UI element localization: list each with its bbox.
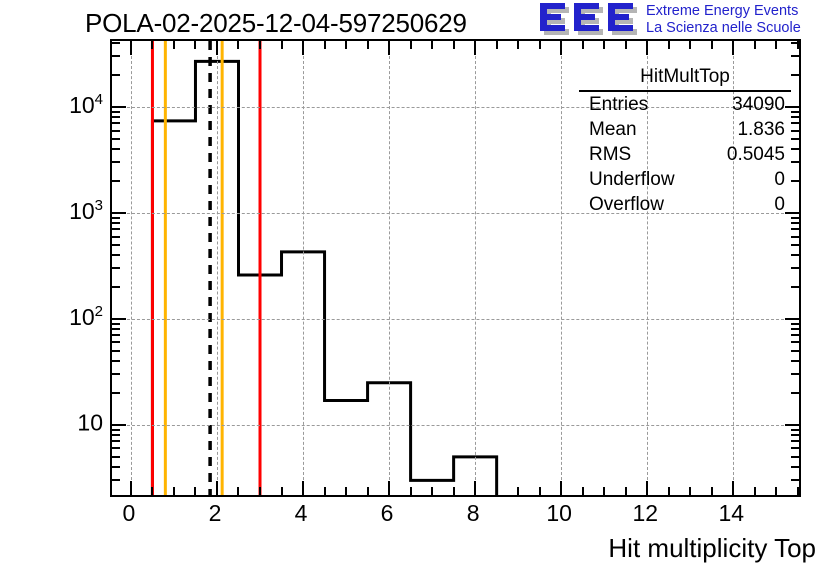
axis-tick (367, 487, 369, 495)
axis-tick (112, 212, 126, 214)
axis-tick (560, 41, 562, 55)
axis-tick (388, 41, 390, 55)
axis-tick (791, 180, 799, 182)
axis-tick (151, 41, 153, 49)
axis-tick (560, 481, 562, 495)
axis-tick (259, 41, 261, 49)
axis-tick (112, 350, 120, 352)
axis-tick (791, 122, 799, 124)
axis-tick (791, 116, 799, 118)
axis-tick (474, 41, 476, 55)
grid-line-vertical (475, 41, 476, 495)
axis-tick (259, 487, 261, 495)
axis-tick (791, 286, 799, 288)
axis-tick (517, 41, 519, 49)
axis-tick (281, 487, 283, 495)
page-title: POLA-02-2025-12-04-597250629 (85, 8, 467, 39)
axis-tick (785, 424, 799, 426)
axis-tick (112, 148, 120, 150)
axis-tick (410, 487, 412, 495)
axis-tick (791, 130, 799, 132)
eee-logo-line2: La Scienza nelle Scuole (646, 20, 801, 37)
x-tick-label: 8 (467, 500, 480, 527)
grid-line-horizontal (112, 425, 799, 426)
x-tick-label: 10 (546, 500, 572, 527)
axis-tick (112, 456, 120, 458)
axis-tick (112, 424, 126, 426)
x-tick-label: 4 (295, 500, 308, 527)
axis-tick (112, 334, 120, 336)
axis-tick (112, 392, 120, 394)
axis-tick (791, 350, 799, 352)
axis-tick (151, 487, 153, 495)
stats-key: Mean (589, 118, 637, 141)
axis-tick (517, 487, 519, 495)
stats-row: Overflow0 (579, 192, 791, 217)
axis-tick (791, 138, 799, 140)
x-tick-label: 14 (719, 500, 745, 527)
axis-tick (625, 41, 627, 49)
stats-key: Overflow (589, 193, 664, 216)
eee-logo-line1: Extreme Energy Events (646, 3, 801, 20)
axis-tick (791, 161, 799, 163)
axis-tick (785, 318, 799, 320)
axis-tick (112, 74, 120, 76)
axis-tick (791, 228, 799, 230)
stats-box: HitMultTop Entries34090Mean1.836RMS0.504… (578, 64, 792, 218)
axis-tick (112, 236, 120, 238)
axis-tick (112, 267, 120, 269)
axis-tick (112, 360, 120, 362)
axis-tick (791, 74, 799, 76)
axis-tick (689, 41, 691, 49)
axis-tick (112, 286, 120, 288)
histogram-outline (152, 61, 496, 495)
axis-tick (112, 373, 120, 375)
stats-value: 1.836 (737, 118, 785, 141)
stats-key: Entries (589, 93, 648, 116)
stats-row: Underflow0 (579, 167, 791, 192)
axis-tick (367, 41, 369, 49)
axis-tick (496, 41, 498, 49)
axis-tick (388, 481, 390, 495)
axis-tick (646, 41, 648, 55)
axis-tick (791, 254, 799, 256)
axis-tick (732, 481, 734, 495)
axis-tick (112, 217, 120, 219)
axis-tick (791, 244, 799, 246)
grid-line-vertical (131, 41, 132, 495)
eee-logo: Extreme Energy Events La Scienza nelle S… (540, 3, 832, 41)
eee-logo-text: Extreme Energy Events La Scienza nelle S… (646, 3, 801, 37)
axis-tick (173, 487, 175, 495)
axis-tick (410, 41, 412, 49)
axis-tick (345, 487, 347, 495)
axis-tick (237, 487, 239, 495)
y-axis-labels: 10410310210 (0, 0, 103, 572)
x-axis-title: Hit multiplicity Top (608, 533, 816, 564)
axis-tick (112, 429, 120, 431)
axis-tick (791, 323, 799, 325)
axis-tick (603, 487, 605, 495)
axis-tick (173, 41, 175, 49)
axis-tick (112, 42, 120, 44)
axis-tick (194, 487, 196, 495)
axis-tick (791, 429, 799, 431)
stats-title: HitMultTop (579, 65, 791, 92)
axis-tick (237, 41, 239, 49)
x-tick-label: 2 (209, 500, 222, 527)
stats-value: 0 (774, 168, 785, 191)
axis-tick (791, 111, 799, 113)
stats-key: RMS (589, 143, 631, 166)
x-tick-label: 6 (381, 500, 394, 527)
axis-tick (112, 180, 120, 182)
axis-tick (791, 334, 799, 336)
axis-tick (431, 487, 433, 495)
axis-tick (791, 267, 799, 269)
stats-value: 0.5045 (727, 143, 785, 166)
axis-tick (711, 487, 713, 495)
axis-tick (791, 392, 799, 394)
stats-row: RMS0.5045 (579, 142, 791, 167)
axis-tick (112, 130, 120, 132)
axis-tick (216, 481, 218, 495)
axis-tick (112, 116, 120, 118)
axis-tick (216, 41, 218, 55)
axis-tick (775, 487, 777, 495)
axis-tick (281, 41, 283, 49)
x-tick-label: 12 (632, 500, 658, 527)
axis-tick (112, 447, 120, 449)
axis-tick (453, 41, 455, 49)
axis-tick (603, 41, 605, 49)
axis-tick (112, 222, 120, 224)
grid-line-vertical (303, 41, 304, 495)
y-tick-label: 10 (77, 409, 103, 436)
axis-tick (791, 42, 799, 44)
axis-tick (130, 41, 132, 55)
stats-row: Mean1.836 (579, 117, 791, 142)
grid-line-vertical (389, 41, 390, 495)
axis-tick (112, 111, 120, 113)
axis-tick (791, 466, 799, 468)
axis-tick (496, 487, 498, 495)
grid-line-vertical (217, 41, 218, 495)
stats-value: 0 (774, 193, 785, 216)
axis-tick (668, 41, 670, 49)
axis-tick (130, 481, 132, 495)
axis-tick (112, 466, 120, 468)
axis-tick (302, 481, 304, 495)
axis-tick (791, 373, 799, 375)
axis-tick (791, 217, 799, 219)
stats-key: Underflow (589, 168, 675, 191)
axis-tick (112, 440, 120, 442)
axis-tick (112, 434, 120, 436)
axis-tick (112, 106, 126, 108)
stats-row: Entries34090 (579, 92, 791, 117)
axis-tick (791, 434, 799, 436)
axis-tick (582, 487, 584, 495)
axis-tick (791, 222, 799, 224)
axis-tick (797, 487, 799, 495)
axis-tick (539, 41, 541, 49)
axis-tick (791, 328, 799, 330)
y-tick-label: 102 (69, 303, 103, 331)
axis-tick (791, 55, 799, 57)
axis-tick (474, 481, 476, 495)
axis-tick (791, 447, 799, 449)
x-tick-label: 0 (123, 500, 136, 527)
axis-tick (668, 487, 670, 495)
axis-tick (112, 341, 120, 343)
axis-tick (112, 122, 120, 124)
axis-tick (112, 161, 120, 163)
axis-tick (754, 487, 756, 495)
axis-tick (539, 487, 541, 495)
axis-tick (791, 341, 799, 343)
axis-tick (775, 41, 777, 49)
axis-tick (112, 254, 120, 256)
axis-tick (112, 323, 120, 325)
axis-tick (345, 41, 347, 49)
grid-line-horizontal (112, 319, 799, 320)
eee-logo-mark (540, 3, 640, 37)
y-tick-label: 103 (69, 197, 103, 225)
axis-tick (112, 55, 120, 57)
axis-tick (112, 479, 120, 481)
axis-tick (112, 228, 120, 230)
axis-tick (791, 360, 799, 362)
axis-tick (732, 41, 734, 55)
grid-line-vertical (561, 41, 562, 495)
axis-tick (625, 487, 627, 495)
axis-tick (302, 41, 304, 55)
axis-tick (791, 456, 799, 458)
axis-tick (791, 440, 799, 442)
axis-tick (791, 236, 799, 238)
axis-tick (324, 41, 326, 49)
axis-tick (791, 479, 799, 481)
axis-tick (112, 328, 120, 330)
axis-tick (112, 138, 120, 140)
chart-canvas: POLA-02-2025-12-04-597250629 Extreme Ene… (0, 0, 836, 572)
axis-tick (646, 481, 648, 495)
axis-tick (453, 487, 455, 495)
axis-tick (754, 41, 756, 49)
axis-tick (324, 487, 326, 495)
axis-tick (194, 41, 196, 49)
stats-value: 34090 (732, 93, 785, 116)
axis-tick (689, 487, 691, 495)
axis-tick (112, 244, 120, 246)
axis-tick (431, 41, 433, 49)
y-tick-label: 104 (69, 91, 103, 119)
axis-tick (791, 148, 799, 150)
axis-tick (711, 41, 713, 49)
axis-tick (112, 318, 126, 320)
axis-tick (582, 41, 584, 49)
